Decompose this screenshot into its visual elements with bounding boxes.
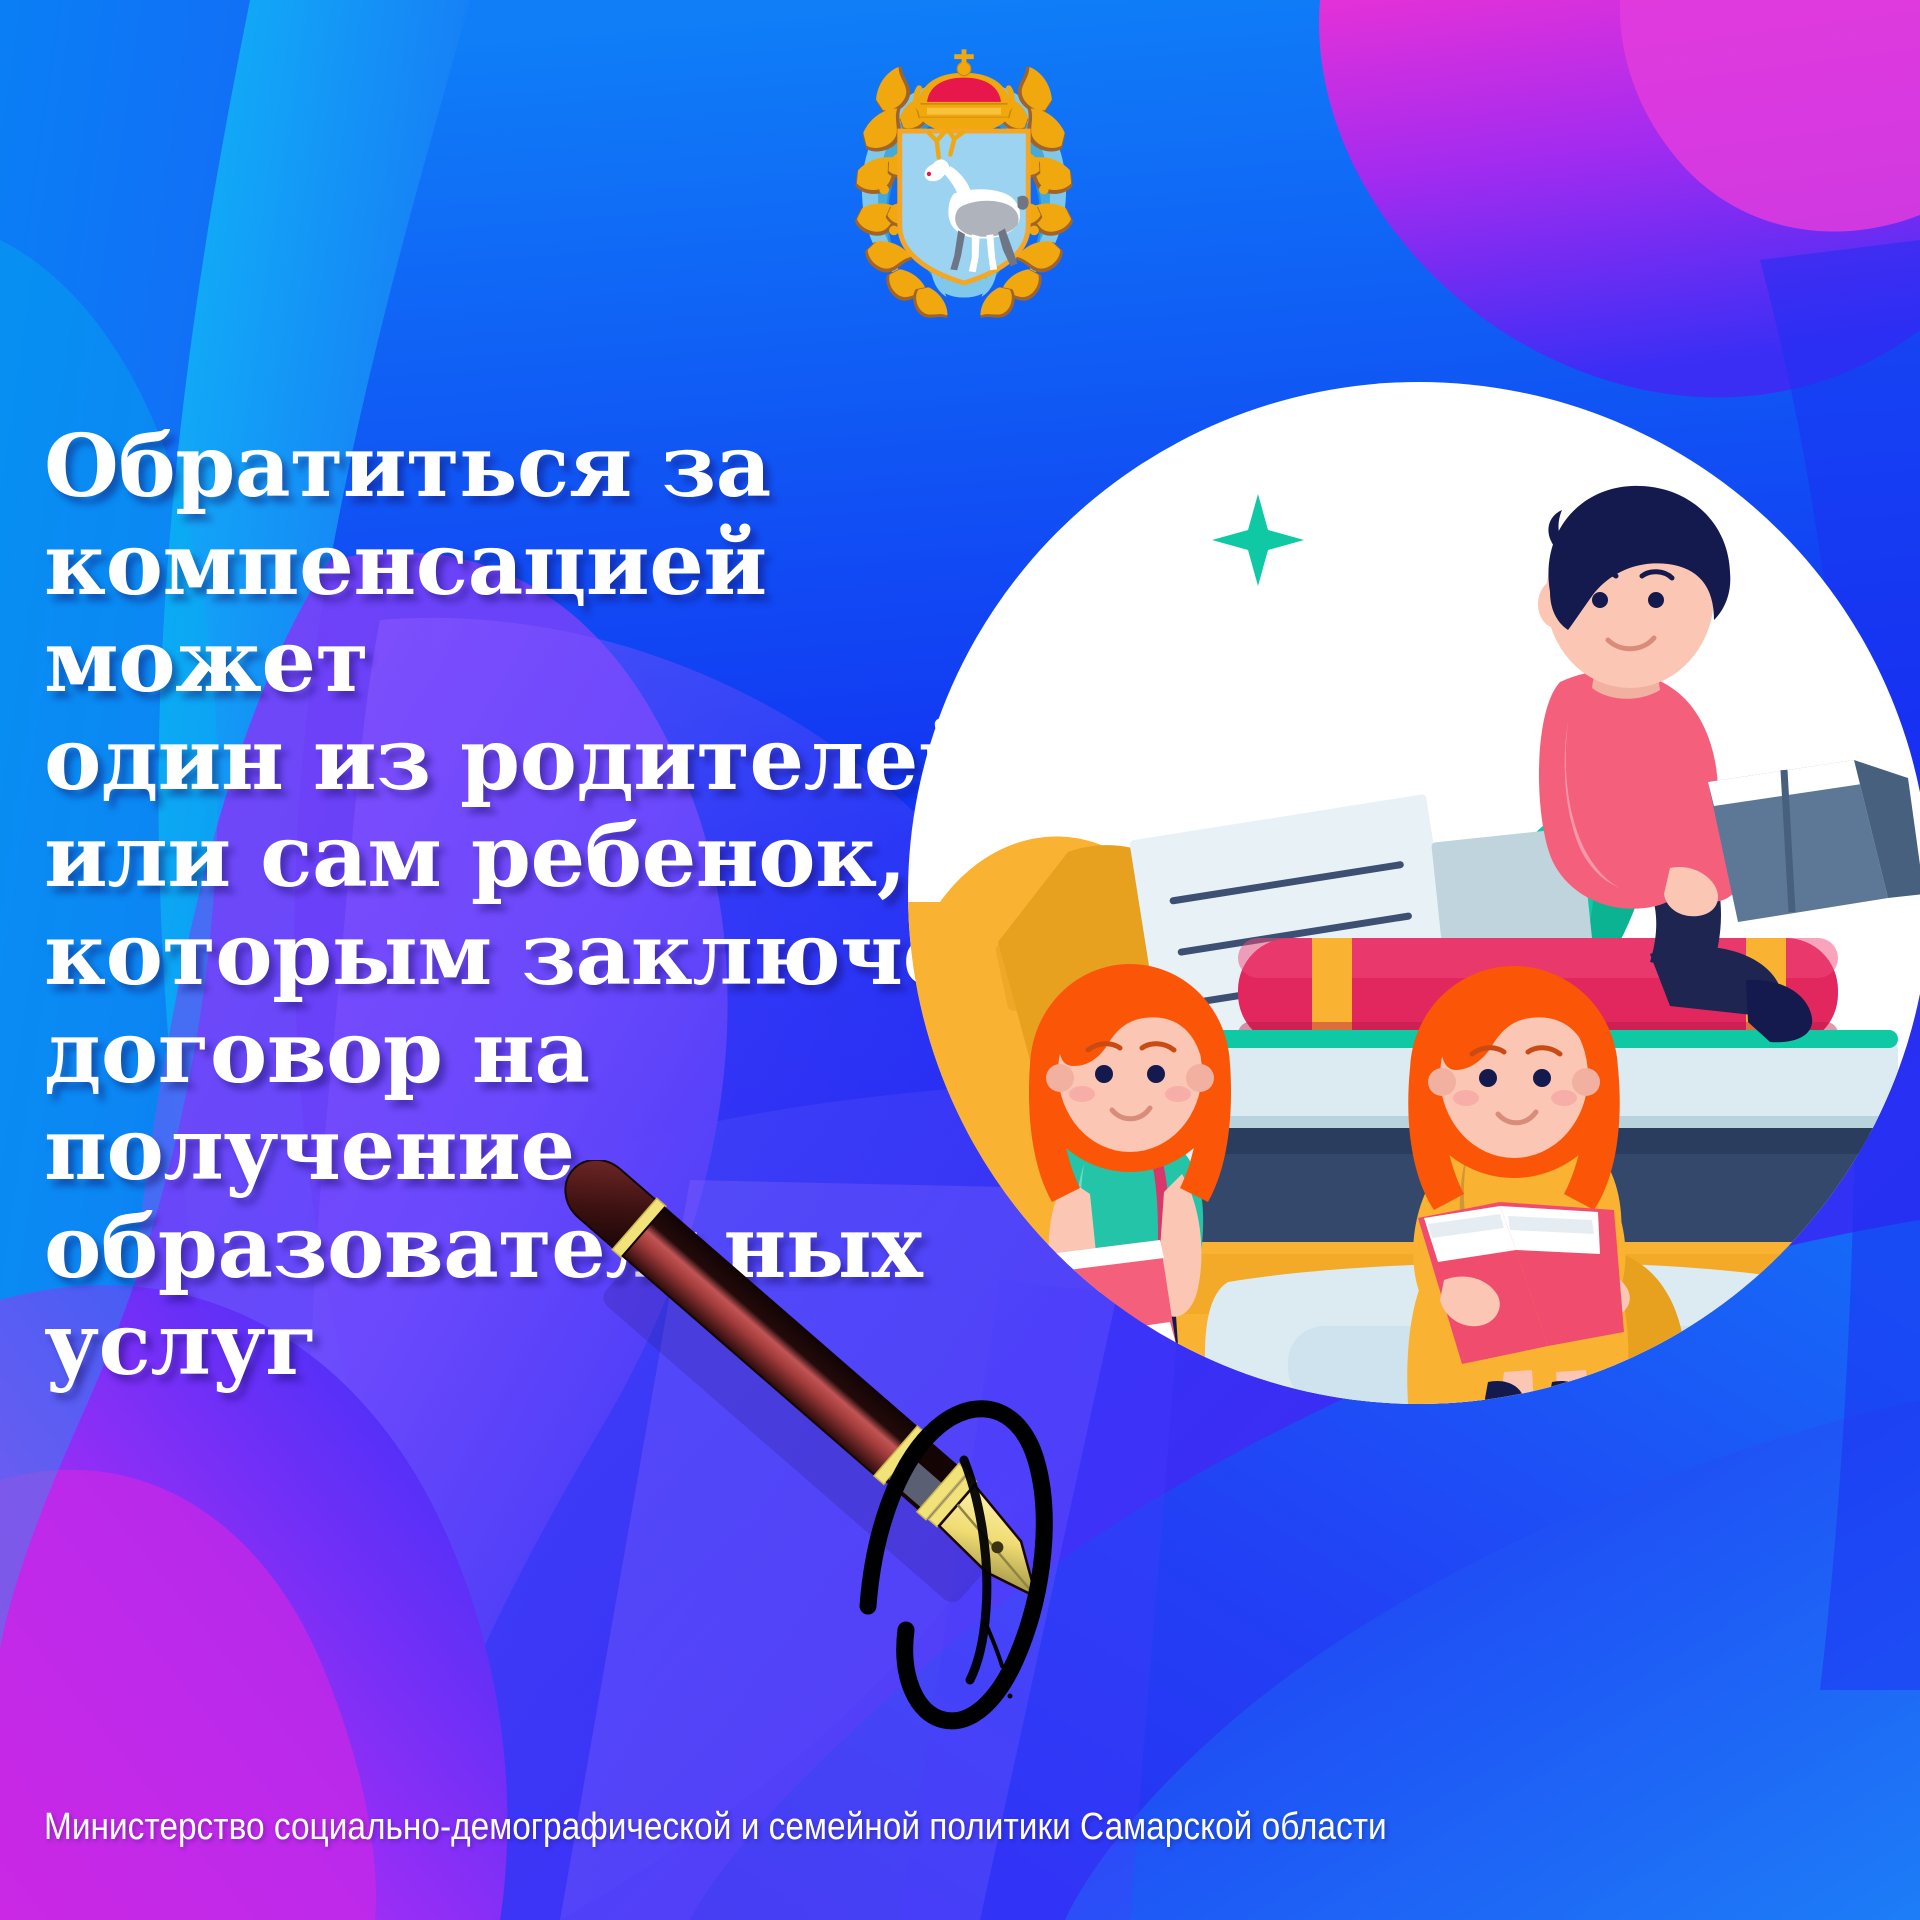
fountain-pen-with-signature [470,1160,1170,1780]
boy-book [1708,760,1920,922]
infographic-poster: Обратиться за компенсацией может один из… [0,0,1920,1920]
imperial-crown-icon [915,49,1012,133]
samara-oblast-coat-of-arms [818,26,1110,318]
footer-organization-name: Министерство социально-демографической и… [44,1806,1663,1849]
shoe [1548,1381,1588,1404]
